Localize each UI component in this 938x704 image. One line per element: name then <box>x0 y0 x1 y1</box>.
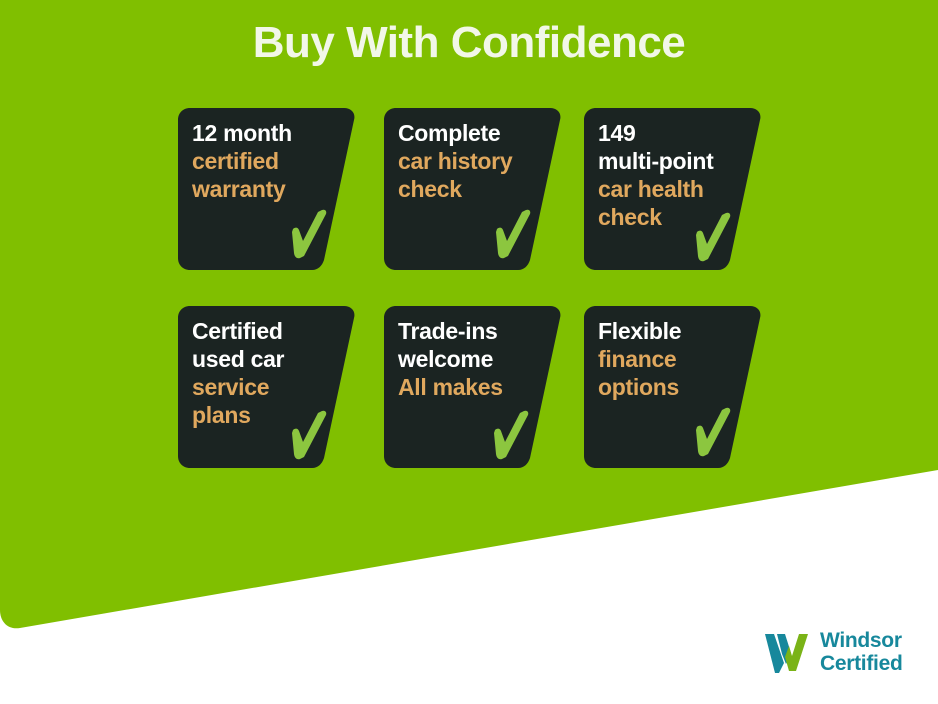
check-mark-icon <box>692 406 736 458</box>
card-line: welcome <box>398 345 548 373</box>
card-line: finance <box>598 345 748 373</box>
card-line: Trade-ins <box>398 317 548 345</box>
card-line: check <box>398 175 548 203</box>
feature-card-row-top: 12 month certified warranty Com <box>178 108 758 270</box>
card-text-block: Flexible finance options <box>598 317 748 401</box>
check-mark-icon <box>692 211 736 263</box>
card-line: car history <box>398 147 548 175</box>
card-text-block: Complete car history check <box>398 119 548 203</box>
card-line: Flexible <box>598 317 748 345</box>
feature-card[interactable]: Flexible finance options <box>584 306 762 468</box>
check-mark-icon <box>288 208 332 260</box>
feature-card-grid: 12 month certified warranty Com <box>178 108 758 504</box>
card-line: 149 <box>598 119 748 147</box>
feature-card-row-bottom: Certified used car service plans <box>178 306 758 468</box>
card-line: multi-point <box>598 147 748 175</box>
card-line: options <box>598 373 748 401</box>
card-line: 12 month <box>192 119 342 147</box>
feature-card[interactable]: Complete car history check <box>384 108 562 270</box>
card-line: certified <box>192 147 342 175</box>
card-text-block: 12 month certified warranty <box>192 119 342 203</box>
check-mark-icon <box>490 409 534 461</box>
feature-card[interactable]: Certified used car service plans <box>178 306 356 468</box>
card-line: used car <box>192 345 342 373</box>
promo-banner: Buy With Confidence 12 month certified w… <box>0 0 938 704</box>
page-title: Buy With Confidence <box>0 18 938 68</box>
card-line: car health <box>598 175 748 203</box>
brand-logo[interactable]: Windsor Certified <box>763 623 923 681</box>
windsor-w-icon <box>763 630 811 674</box>
feature-card[interactable]: 12 month certified warranty <box>178 108 356 270</box>
check-mark-icon <box>288 409 332 461</box>
card-text-block: Trade-ins welcome All makes <box>398 317 548 401</box>
card-line: service <box>192 373 342 401</box>
brand-name-line1: Windsor <box>820 629 902 652</box>
card-line: All makes <box>398 373 548 401</box>
card-line: Certified <box>192 317 342 345</box>
feature-card[interactable]: 149 multi-point car health check <box>584 108 762 270</box>
check-mark-icon <box>492 208 536 260</box>
feature-card[interactable]: Trade-ins welcome All makes <box>384 306 562 468</box>
card-line: Complete <box>398 119 548 147</box>
card-line: warranty <box>192 175 342 203</box>
brand-name-line2: Certified <box>820 652 902 675</box>
brand-logo-text: Windsor Certified <box>820 629 902 675</box>
